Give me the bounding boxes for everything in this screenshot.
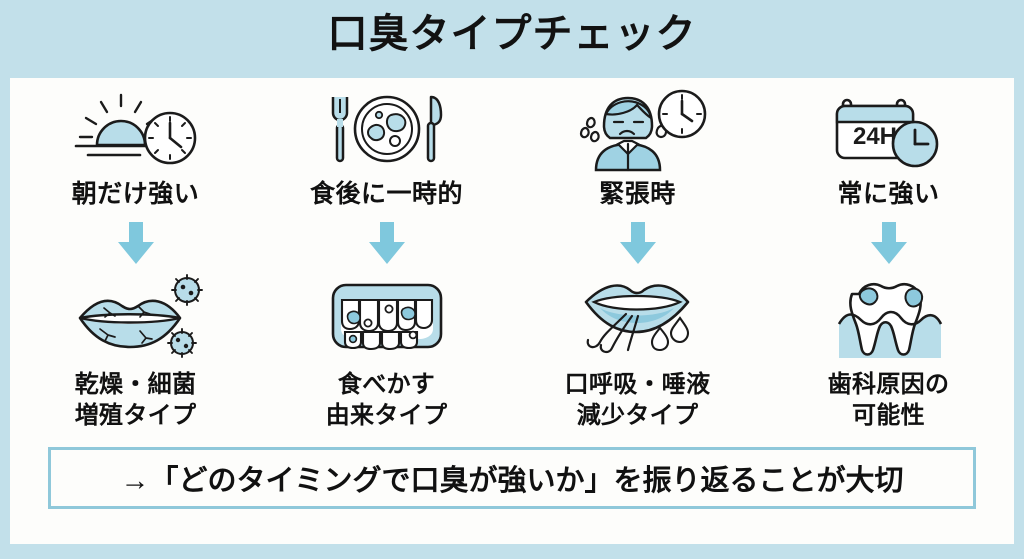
tooth-gum-decay-icon xyxy=(821,271,957,361)
calendar-badge-text: 24H xyxy=(852,123,896,150)
nervous-person-clock-icon xyxy=(568,86,708,172)
open-mouth-saliva-icon xyxy=(568,271,708,361)
dry-lips-bacteria-icon xyxy=(66,271,206,361)
trigger-label-4: 常に強い xyxy=(837,180,939,209)
type-column-2: 食後に一時的 xyxy=(267,86,507,431)
summary-banner: →「どのタイミングで口臭が強いか」を振り返ることが大切 xyxy=(48,447,976,509)
type-column-1: 朝だけ強い xyxy=(16,86,256,431)
sunrise-clock-icon xyxy=(66,86,206,172)
result-label-3: 口呼吸・唾液 減少タイプ xyxy=(565,369,711,431)
plate-fork-knife-icon xyxy=(317,86,457,172)
result-label-4: 歯科原因の 可能性 xyxy=(828,369,950,431)
result-label-2: 食べかす 由来タイプ xyxy=(326,369,448,431)
trigger-label-1: 朝だけ強い xyxy=(72,180,200,209)
poster-root: 口臭タイプチェック xyxy=(0,0,1024,559)
content-card: 朝だけ強い xyxy=(10,78,1014,544)
arrow-down-icon-2 xyxy=(364,219,410,267)
summary-banner-text: →「どのタイミングで口臭が強いか」を振り返ることが大切 xyxy=(120,457,903,499)
type-column-3: 緊張時 xyxy=(518,86,758,431)
trigger-label-2: 食後に一時的 xyxy=(310,180,463,209)
page-title: 口臭タイプチェック xyxy=(0,12,1024,56)
trigger-label-3: 緊張時 xyxy=(599,180,676,209)
arrow-down-icon-3 xyxy=(615,219,661,267)
arrow-down-icon-1 xyxy=(113,219,159,267)
teeth-food-debris-icon xyxy=(317,271,457,361)
type-columns-grid: 朝だけ強い xyxy=(10,86,1014,431)
calendar-24h-clock-icon: 24H xyxy=(819,86,959,172)
arrow-down-icon-4 xyxy=(866,219,912,267)
result-label-1: 乾燥・細菌 増殖タイプ xyxy=(75,369,197,431)
type-column-4: 24H 常に強い xyxy=(769,86,1009,431)
